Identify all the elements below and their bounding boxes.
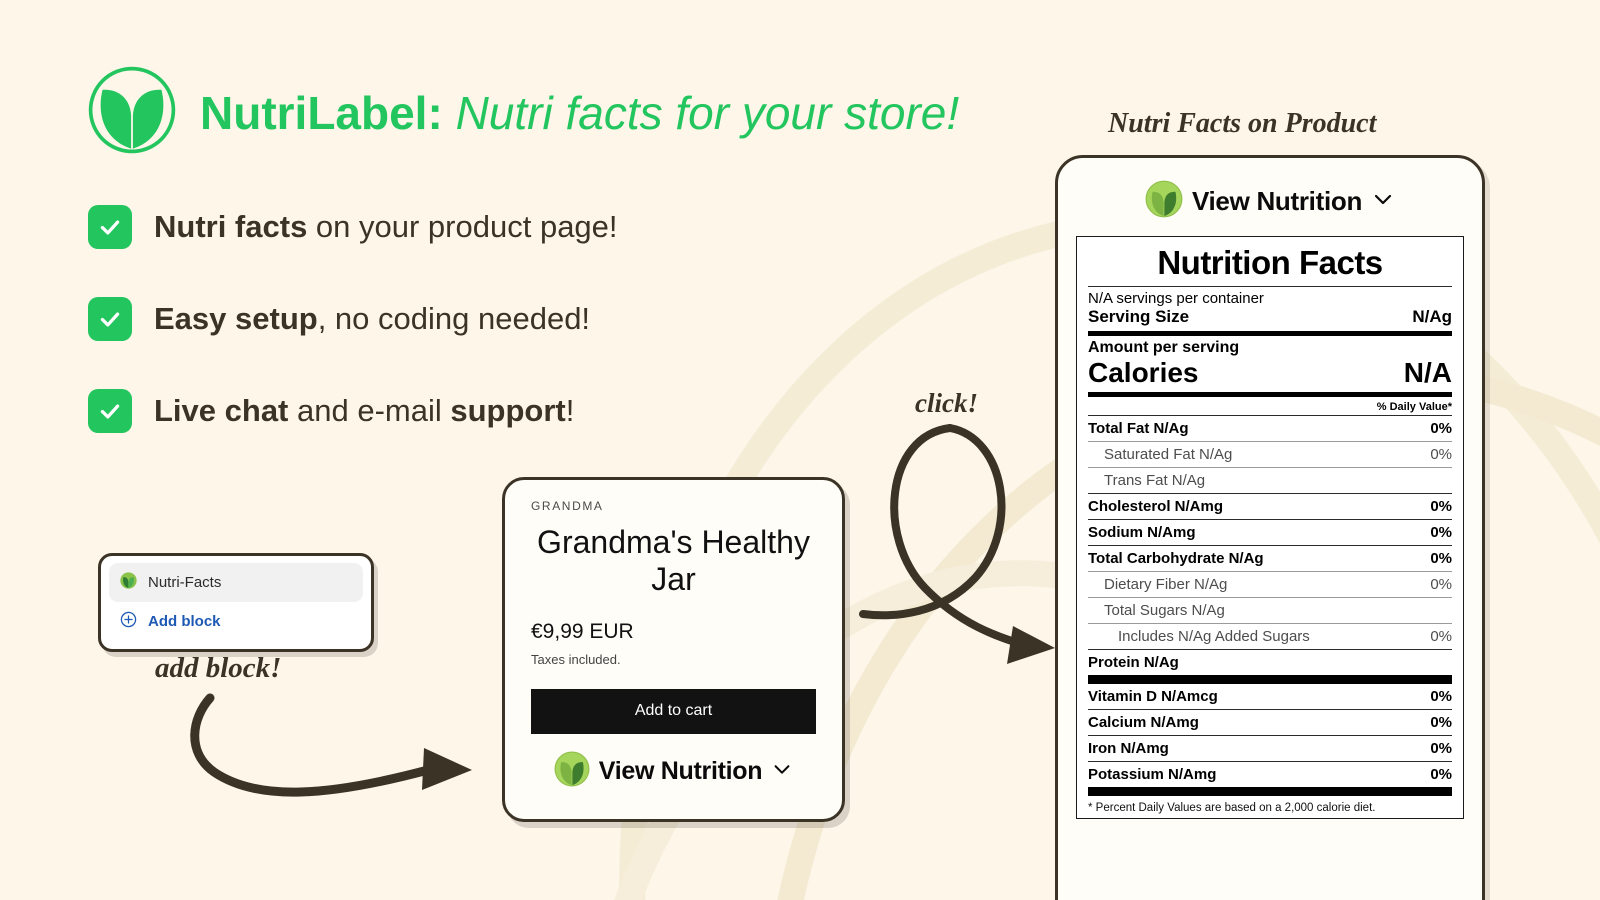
phone-mockup: View Nutrition Nutrition Facts N/A servi… — [1055, 155, 1485, 900]
feature-bold-2: Easy setup — [154, 301, 318, 336]
vitamin-row: Vitamin D N/Amcg 0% — [1088, 684, 1452, 709]
nutrient-row: Dietary Fiber N/Ag 0% — [1088, 572, 1452, 597]
serving-size-label: Serving Size — [1088, 307, 1189, 327]
daily-value-header: % Daily Value* — [1088, 397, 1452, 415]
nutrient-dv: 0% — [1430, 420, 1452, 437]
nutrient-dv: 0% — [1430, 446, 1452, 463]
vitamin-label: Iron N/Amg — [1088, 740, 1169, 757]
block-item-nutri-facts[interactable]: Nutri-Facts — [109, 563, 363, 602]
nutrient-row: Protein N/Ag — [1088, 650, 1452, 675]
annotation-add-block: add block! — [155, 652, 281, 685]
nutrient-label: Protein N/Ag — [1088, 654, 1179, 671]
check-icon — [88, 205, 132, 249]
feature-rest-1: on your product page! — [307, 209, 617, 244]
nutrient-dv: 0% — [1430, 550, 1452, 567]
nutrient-row: Total Fat N/Ag 0% — [1088, 416, 1452, 441]
serving-size-row: Serving Size N/Ag — [1088, 307, 1452, 331]
servings-per-container: N/A servings per container — [1088, 287, 1452, 307]
chevron-down-icon — [1371, 187, 1395, 216]
feature-rest-3b: ! — [566, 393, 575, 428]
calories-row: Calories N/A — [1088, 357, 1452, 392]
feature-label-3: Live chat and e-mail support! — [154, 393, 574, 429]
nutrition-facts-title: Nutrition Facts — [1088, 242, 1452, 286]
nutrient-label: Saturated Fat N/Ag — [1104, 446, 1232, 463]
amount-per-serving-label: Amount per serving — [1088, 336, 1452, 357]
nutrient-row: Total Carbohydrate N/Ag 0% — [1088, 546, 1452, 571]
nutrition-footnote: * Percent Daily Values are based on a 2,… — [1088, 796, 1452, 818]
feature-list: Nutri facts on your product page! Easy s… — [88, 205, 618, 481]
annotation-nutri-facts-on-product: Nutri Facts on Product — [1108, 108, 1376, 140]
feature-bold-3b: support — [450, 393, 565, 428]
nutrient-label: Dietary Fiber N/Ag — [1104, 576, 1227, 593]
vitamin-dv: 0% — [1430, 766, 1452, 783]
nutrilabel-leaf-logo-icon — [86, 64, 178, 161]
vitamin-label: Calcium N/Amg — [1088, 714, 1199, 731]
vitamin-dv: 0% — [1430, 740, 1452, 757]
product-vendor: GRANDMA — [531, 499, 816, 513]
feature-bold-1: Nutri facts — [154, 209, 307, 244]
block-panel: Nutri-Facts Add block — [98, 553, 374, 652]
nutri-facts-leaf-icon — [120, 572, 137, 593]
nutrient-label: Trans Fat N/Ag — [1104, 472, 1205, 489]
page-title: NutriLabel: Nutri facts for your store! — [200, 90, 959, 136]
brand-name: NutriLabel: — [200, 87, 443, 139]
serving-size-value: N/Ag — [1412, 307, 1452, 327]
nutrient-label: Total Sugars N/Ag — [1104, 602, 1225, 619]
header: NutriLabel: Nutri facts for your store! — [86, 64, 959, 161]
feature-item-1: Nutri facts on your product page! — [88, 205, 618, 249]
add-to-cart-button[interactable]: Add to cart — [531, 689, 816, 734]
feature-rest-2: , no coding needed! — [318, 301, 590, 336]
nutrient-row: Total Sugars N/Ag — [1088, 598, 1452, 623]
nutrient-label: Sodium N/Amg — [1088, 524, 1196, 541]
product-taxes-note: Taxes included. — [531, 652, 816, 667]
nutrient-dv: 0% — [1430, 576, 1452, 593]
nutrient-dv: 0% — [1430, 498, 1452, 515]
calories-label: Calories — [1088, 357, 1199, 389]
chevron-down-icon — [771, 758, 793, 785]
feature-rest-3a: and e-mail — [288, 393, 450, 428]
nutrient-dv: 0% — [1430, 524, 1452, 541]
vitamin-row: Calcium N/Amg 0% — [1088, 710, 1452, 735]
add-block-label: Add block — [148, 613, 221, 630]
vitamin-label: Potassium N/Amg — [1088, 766, 1216, 783]
check-icon — [88, 297, 132, 341]
annotation-click: click! — [915, 388, 978, 419]
nutrient-label: Includes N/Ag Added Sugars — [1118, 628, 1310, 645]
nutrilabel-leaf-logo-icon — [1145, 180, 1183, 223]
click-arrow-icon — [855, 418, 1065, 668]
calories-value: N/A — [1404, 357, 1452, 389]
product-card: GRANDMA Grandma's Healthy Jar €9,99 EUR … — [502, 477, 845, 822]
plus-circle-icon — [120, 611, 137, 632]
vitamin-dv: 0% — [1430, 714, 1452, 731]
nutrient-row: Includes N/Ag Added Sugars 0% — [1088, 624, 1452, 649]
nutrient-label: Total Fat N/Ag — [1088, 420, 1189, 437]
feature-label-2: Easy setup, no coding needed! — [154, 301, 590, 337]
vitamin-row: Potassium N/Amg 0% — [1088, 762, 1452, 787]
feature-bold-3a: Live chat — [154, 393, 288, 428]
nutrient-label: Cholesterol N/Amg — [1088, 498, 1223, 515]
add-block-arrow-icon — [180, 690, 500, 820]
product-price: €9,99 EUR — [531, 620, 816, 644]
vitamin-label: Vitamin D N/Amcg — [1088, 688, 1218, 705]
vitamin-dv: 0% — [1430, 688, 1452, 705]
nutrient-label: Total Carbohydrate N/Ag — [1088, 550, 1264, 567]
nutrient-row: Cholesterol N/Amg 0% — [1088, 494, 1452, 519]
brand-tagline: Nutri facts for your store! — [456, 87, 960, 139]
phone-view-nutrition-toggle[interactable]: View Nutrition — [1076, 180, 1464, 223]
nutrient-dv: 0% — [1430, 628, 1452, 645]
nutrient-row: Trans Fat N/Ag — [1088, 468, 1452, 493]
product-title: Grandma's Healthy Jar — [531, 524, 816, 598]
feature-label-1: Nutri facts on your product page! — [154, 209, 618, 245]
view-nutrition-toggle[interactable]: View Nutrition — [531, 751, 816, 792]
view-nutrition-label: View Nutrition — [599, 757, 762, 786]
nutrient-row: Saturated Fat N/Ag 0% — [1088, 442, 1452, 467]
check-icon — [88, 389, 132, 433]
vitamin-row: Iron N/Amg 0% — [1088, 736, 1452, 761]
feature-item-3: Live chat and e-mail support! — [88, 389, 618, 433]
nutrilabel-leaf-logo-icon — [554, 751, 590, 792]
block-item-label: Nutri-Facts — [148, 574, 221, 591]
divider — [1088, 787, 1452, 796]
nutrient-row: Sodium N/Amg 0% — [1088, 520, 1452, 545]
feature-item-2: Easy setup, no coding needed! — [88, 297, 618, 341]
phone-view-nutrition-label: View Nutrition — [1192, 186, 1362, 217]
nutrition-facts-panel: Nutrition Facts N/A servings per contain… — [1076, 236, 1464, 819]
add-block-button[interactable]: Add block — [109, 602, 363, 641]
divider — [1088, 675, 1452, 684]
